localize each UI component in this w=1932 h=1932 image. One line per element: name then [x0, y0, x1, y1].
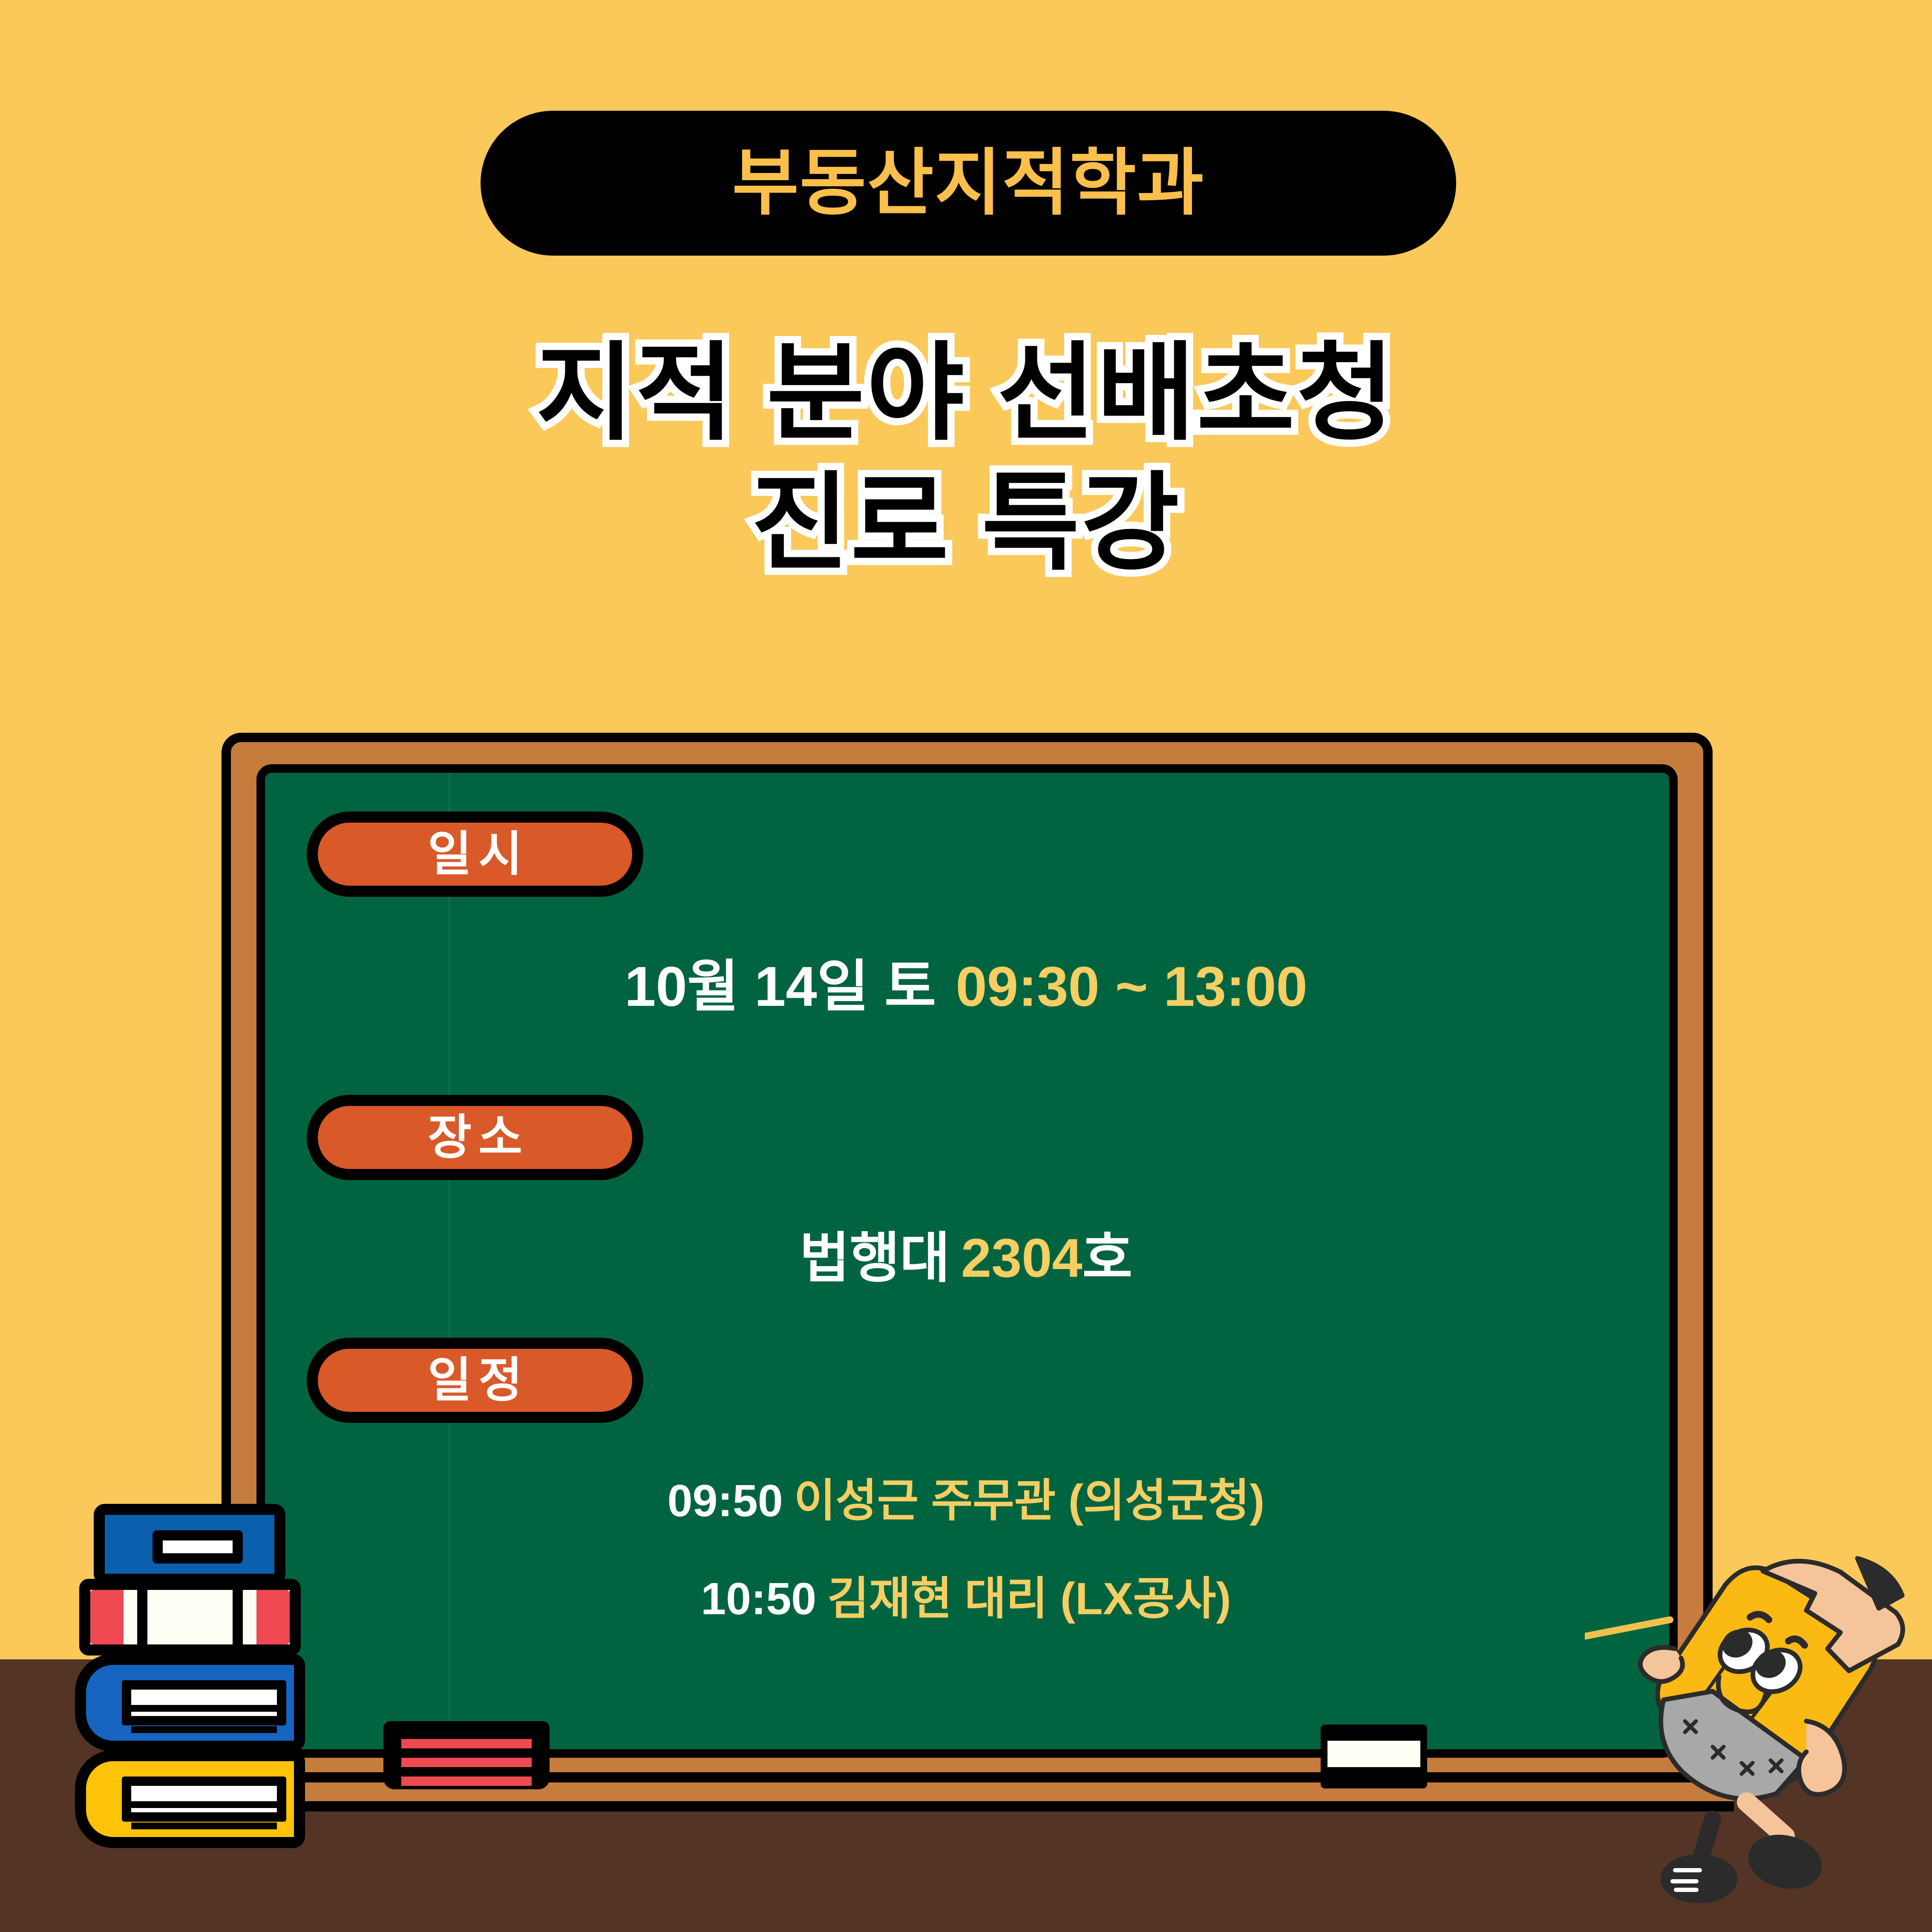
- book-blue-lower: [75, 1654, 305, 1752]
- book-blue-top: [94, 1504, 285, 1585]
- eraser-stripe: [401, 1777, 532, 1786]
- date-value: 10월 14일 토: [625, 955, 936, 1018]
- chalk-stick: [1327, 1741, 1420, 1767]
- schedule-time: 10:50: [701, 1574, 816, 1624]
- label-pill-date-text: 일시: [421, 830, 529, 878]
- book-divider-right: [233, 1590, 243, 1644]
- book-divider-left: [137, 1590, 147, 1644]
- chalk-icon: [1321, 1725, 1427, 1788]
- schedule-detail: 이성근 주무관 (의성군청): [794, 1476, 1265, 1526]
- book-pages: [122, 1777, 286, 1822]
- pencil-character-icon: [1585, 1521, 1909, 1904]
- poster-title-line-2: 진로 특강: [0, 458, 1932, 588]
- book-page-line: [131, 1705, 277, 1712]
- book-page-line: [131, 1726, 277, 1733]
- book-pages: [122, 1680, 286, 1725]
- label-pill-place: 장소: [307, 1095, 643, 1180]
- book-cap-left: [90, 1590, 124, 1644]
- book-red-white: [79, 1579, 301, 1656]
- poster-title-line-1: 지적 분야 선배초청: [0, 328, 1932, 458]
- eraser-icon: [383, 1721, 550, 1789]
- book-cap-right: [256, 1590, 290, 1644]
- place-room-number: 2304: [961, 1228, 1083, 1289]
- department-badge-label: 부동산지적학과: [732, 147, 1205, 219]
- place-room-suffix: 호: [1083, 1228, 1133, 1289]
- book-page-line: [131, 1823, 277, 1829]
- label-pill-schedule-text: 일정: [421, 1356, 529, 1404]
- book-stack-icon: [72, 1504, 337, 1896]
- date-time-value: 10월 14일 토09:30 ~ 13:00: [0, 959, 1932, 1015]
- place-value: 법행대2304호: [0, 1231, 1932, 1286]
- place-building: 법행대: [800, 1228, 950, 1289]
- book-page-line: [131, 1801, 277, 1808]
- label-pill-place-text: 장소: [421, 1114, 529, 1161]
- book-spine-label: [153, 1530, 243, 1563]
- eraser-stripe: [401, 1758, 532, 1767]
- department-badge: 부동산지적학과: [481, 111, 1456, 256]
- schedule-time: 09:50: [668, 1476, 783, 1526]
- time-range-value: 09:30 ~ 13:00: [956, 955, 1307, 1018]
- schedule-detail: 김재현 대리 (LX공사): [827, 1574, 1231, 1624]
- eraser-stripe: [401, 1739, 532, 1748]
- label-pill-date: 일시: [307, 812, 643, 897]
- book-yellow: [75, 1750, 305, 1848]
- poster-title: 지적 분야 선배초청 진로 특강: [0, 328, 1932, 588]
- label-pill-schedule: 일정: [307, 1338, 643, 1423]
